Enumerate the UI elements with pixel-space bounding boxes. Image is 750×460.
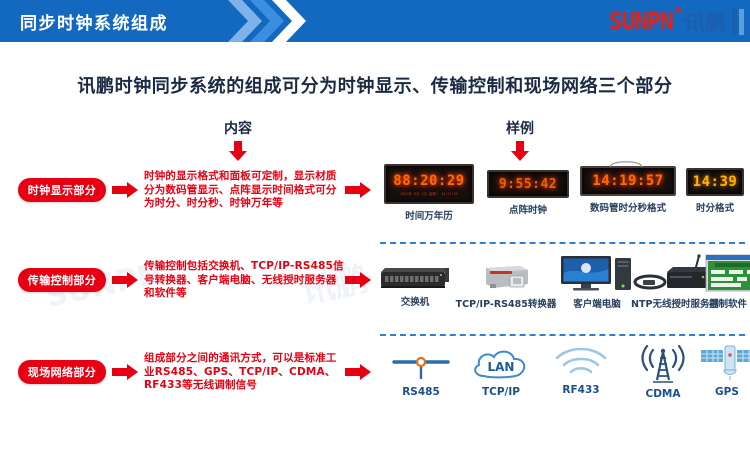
example-caption: 时分格式 xyxy=(681,200,749,214)
example-control-software[interactable]: 控制软件 xyxy=(705,254,750,310)
lan-cloud-icon: LAN xyxy=(468,346,534,382)
example-time-calendar[interactable]: 88:20:29 2024年 8月 5日 星期一 14:21:29 时间万年历 xyxy=(379,164,479,222)
column-header-example: 样例 xyxy=(470,118,570,167)
page-title: 讯鹏时钟同步系统的组成可分为时钟显示、传输控制和现场网络三个部分 xyxy=(0,72,750,98)
row-label-transmission-control: 传输控制部分 xyxy=(18,268,106,292)
clock-digits: 88:20:29 xyxy=(393,173,464,189)
right-arrow-icon xyxy=(112,182,138,198)
clock-digits: 14:19:57 xyxy=(592,173,663,189)
column-header-example-label: 样例 xyxy=(470,118,570,138)
right-arrow-icon xyxy=(112,272,138,288)
row-label-clock-display: 时钟显示部分 xyxy=(18,178,106,202)
section-row-clock-display: 时钟显示部分 时钟的显示格式和面板可定制，显示材质分为数码管显示、点阵显示时间格… xyxy=(0,162,750,237)
clock-digits: 14:39 xyxy=(693,174,738,190)
registered-mark-icon: ® xyxy=(674,6,682,16)
clock-calendar-subtext: 2024年 8月 5日 星期一 14:21:29 xyxy=(400,191,457,196)
example-protocol-converter[interactable]: TCP/IP-RS485转换器 xyxy=(451,260,561,310)
example-client-computer[interactable]: 客户端电脑 xyxy=(557,254,637,310)
brand-logo: SUNPN ® 讯鹏 xyxy=(609,6,744,38)
header-title: 同步时钟系统组成 xyxy=(20,9,168,34)
example-hour-minute-clock[interactable]: 14:39 时分格式 xyxy=(681,168,749,214)
network-switch-icon xyxy=(379,264,451,290)
logo-mark-text: SUNPN ® xyxy=(609,9,673,35)
example-seven-seg-clock[interactable]: 14:19:57 数码管时分秒格式 xyxy=(573,166,683,214)
chevron-icon-mask xyxy=(294,0,328,42)
clock-hanger-icon xyxy=(606,160,646,167)
example-caption: CDMA xyxy=(617,388,709,400)
page-header: 同步时钟系统组成 SUNPN ® 讯鹏 xyxy=(0,0,750,48)
example-caption: GPS xyxy=(697,386,750,398)
section-row-transmission-control: 传输控制部分 传输控制包括交换机、TCP/IP-RS485信号转换器、客户端电脑… xyxy=(0,252,750,327)
clock-hour-minute-device: 14:39 xyxy=(686,168,744,196)
cell-tower-icon xyxy=(631,342,695,384)
satellite-icon xyxy=(697,342,750,382)
example-rf433[interactable]: RF433 xyxy=(535,348,627,396)
example-caption: 控制软件 xyxy=(705,296,750,310)
column-header-content: 内容 xyxy=(188,118,288,167)
rs485-bus-icon xyxy=(390,352,452,382)
example-caption: RS485 xyxy=(375,386,467,398)
examples-field-network: RS485 LAN TCP/IP RF433 xyxy=(375,342,750,422)
row-description-field-network: 组成部分之间的通讯方式，可以是标准工业RS485、GPS、TCP/IP、CDMA… xyxy=(144,352,344,393)
wireless-waves-icon xyxy=(551,348,611,380)
example-caption: 客户端电脑 xyxy=(557,296,637,310)
logo-chinese-name: 讯鹏 xyxy=(684,7,726,37)
example-cdma[interactable]: CDMA xyxy=(617,342,709,400)
row-separator-2 xyxy=(380,334,745,336)
example-caption: 点阵时钟 xyxy=(480,202,576,216)
right-arrow-icon xyxy=(345,182,371,198)
slide-root: 同步时钟系统组成 SUNPN ® 讯鹏 讯鹏时钟同步系统的组成可分为时钟显示、传… xyxy=(0,0,750,460)
desktop-computer-icon xyxy=(559,254,635,292)
clock-seven-seg-mount: 14:19:57 xyxy=(580,166,676,196)
row-description-transmission-control: 传输控制包括交换机、TCP/IP-RS485信号转换器、客户端电脑、无线授时服务… xyxy=(144,260,344,301)
right-arrow-icon xyxy=(345,364,371,380)
examples-transmission-control: 交换机 TCP/IP-RS485转换器 xyxy=(375,252,750,327)
row-separator-1 xyxy=(380,242,745,244)
control-software-icon xyxy=(705,254,750,292)
lan-cloud-label: LAN xyxy=(488,360,515,374)
example-dotmatrix-clock[interactable]: 9:55:42 点阵时钟 xyxy=(480,170,576,216)
protocol-converter-icon xyxy=(480,260,532,292)
example-caption: TCP/IP xyxy=(455,386,547,398)
header-underline xyxy=(0,42,750,44)
right-arrow-icon xyxy=(112,364,138,380)
example-gps[interactable]: GPS xyxy=(697,342,750,398)
example-rs485[interactable]: RS485 xyxy=(375,352,467,398)
clock-dotmatrix-device: 9:55:42 xyxy=(487,170,569,198)
clock-seven-seg-device: 14:19:57 xyxy=(580,166,676,196)
logo-sunpn-label: SUNPN xyxy=(609,9,673,35)
examples-clock-display: 88:20:29 2024年 8月 5日 星期一 14:21:29 时间万年历 … xyxy=(375,162,750,237)
clock-digits: 9:55:42 xyxy=(499,177,557,192)
example-network-switch[interactable]: 交换机 xyxy=(377,264,453,308)
example-caption: 数码管时分秒格式 xyxy=(573,200,683,214)
example-caption: TCP/IP-RS485转换器 xyxy=(451,296,561,310)
example-caption: 时间万年历 xyxy=(379,208,479,222)
clock-calendar-device: 88:20:29 2024年 8月 5日 星期一 14:21:29 xyxy=(384,164,474,204)
column-header-content-label: 内容 xyxy=(188,118,288,138)
row-label-field-network: 现场网络部分 xyxy=(18,360,106,384)
section-row-field-network: 现场网络部分 组成部分之间的通讯方式，可以是标准工业RS485、GPS、TCP/… xyxy=(0,342,750,422)
logo-bars-icon xyxy=(730,9,744,35)
chevron-group xyxy=(228,0,348,42)
example-caption: RF433 xyxy=(535,384,627,396)
right-arrow-icon xyxy=(345,272,371,288)
row-description-clock-display: 时钟的显示格式和面板可定制，显示材质分为数码管显示、点阵显示时间格式可分为时分、… xyxy=(144,170,344,211)
example-tcpip[interactable]: LAN TCP/IP xyxy=(455,346,547,398)
example-caption: 交换机 xyxy=(377,294,453,308)
